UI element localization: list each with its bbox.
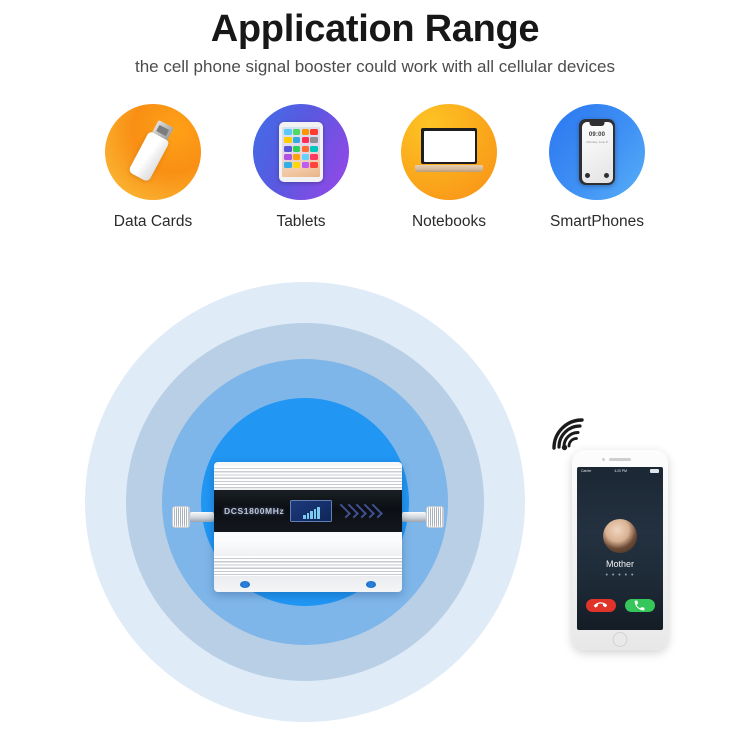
smartphone-icon: 09:00 Monday, June 8 — [579, 119, 615, 185]
smartphone-icon-time: 09:00 — [582, 132, 613, 138]
category-label: Data Cards — [114, 213, 192, 231]
home-button[interactable] — [613, 632, 628, 647]
category-label: Tablets — [276, 213, 325, 231]
front-camera-icon — [602, 458, 605, 461]
data-cards-circle — [105, 104, 201, 200]
usb-stick-icon — [106, 105, 201, 200]
decline-call-button[interactable] — [586, 599, 616, 612]
mount-screw-right — [366, 581, 376, 588]
booster-front-panel: DCS1800MHz — [214, 490, 402, 532]
earpiece-icon — [609, 458, 631, 461]
antenna-connector-right — [402, 504, 444, 530]
booster-lcd-display — [290, 500, 332, 522]
page-title: Application Range — [0, 8, 750, 51]
category-label: SmartPhones — [550, 213, 644, 231]
booster-housing: DCS1800MHz — [214, 462, 402, 592]
battery-icon — [650, 469, 659, 473]
call-screen: Carrier 4:20 PM Mother • • • • • — [577, 467, 663, 630]
notebooks-circle — [401, 104, 497, 200]
category-tablets[interactable]: Tablets — [246, 104, 356, 231]
laptop-icon — [415, 128, 483, 176]
wifi-signal-icon — [548, 416, 592, 454]
status-time: 4:20 PM — [614, 469, 627, 473]
category-smartphones[interactable]: 09:00 Monday, June 8 SmartPhones — [542, 104, 652, 231]
category-label: Notebooks — [412, 213, 486, 231]
status-bar: Carrier 4:20 PM — [577, 469, 663, 473]
caller-avatar — [603, 519, 637, 553]
application-range-infographic: Application Range the cell phone signal … — [0, 0, 750, 750]
smartphone-icon-subtext: Monday, June 8 — [582, 140, 613, 144]
smartphones-circle: 09:00 Monday, June 8 — [549, 104, 645, 200]
category-data-cards[interactable]: Data Cards — [98, 104, 208, 231]
tablets-circle — [253, 104, 349, 200]
mount-screw-left — [240, 581, 250, 588]
calling-indicator: • • • • • — [577, 572, 663, 579]
tablet-icon — [279, 122, 323, 182]
carrier-label: Carrier — [581, 469, 591, 473]
device-category-row: Data Cards Tablets Notebooks — [0, 104, 750, 231]
accept-call-button[interactable] — [625, 599, 655, 612]
caller-name: Mother — [577, 559, 663, 569]
antenna-connector-left — [172, 504, 214, 530]
incoming-call-phone: Carrier 4:20 PM Mother • • • • • — [572, 450, 668, 650]
signal-direction-arrows — [340, 504, 379, 518]
call-actions — [577, 599, 663, 612]
category-notebooks[interactable]: Notebooks — [394, 104, 504, 231]
header: Application Range the cell phone signal … — [0, 0, 750, 77]
booster-model-label: DCS1800MHz — [224, 506, 284, 516]
page-subtitle: the cell phone signal booster could work… — [0, 57, 750, 77]
signal-booster-device: DCS1800MHz — [172, 462, 444, 592]
